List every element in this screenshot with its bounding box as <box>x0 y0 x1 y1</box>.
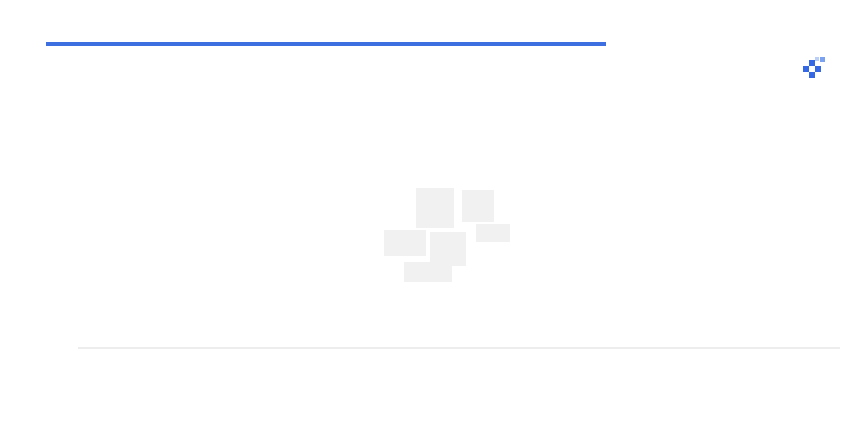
brand-logo <box>803 57 836 81</box>
title-underline <box>46 42 606 46</box>
ccdata-cube-icon <box>803 57 829 81</box>
chart-page <box>0 0 850 424</box>
bar-series-container <box>84 88 836 349</box>
x-axis-baseline <box>78 347 840 349</box>
plot-area <box>84 88 836 349</box>
